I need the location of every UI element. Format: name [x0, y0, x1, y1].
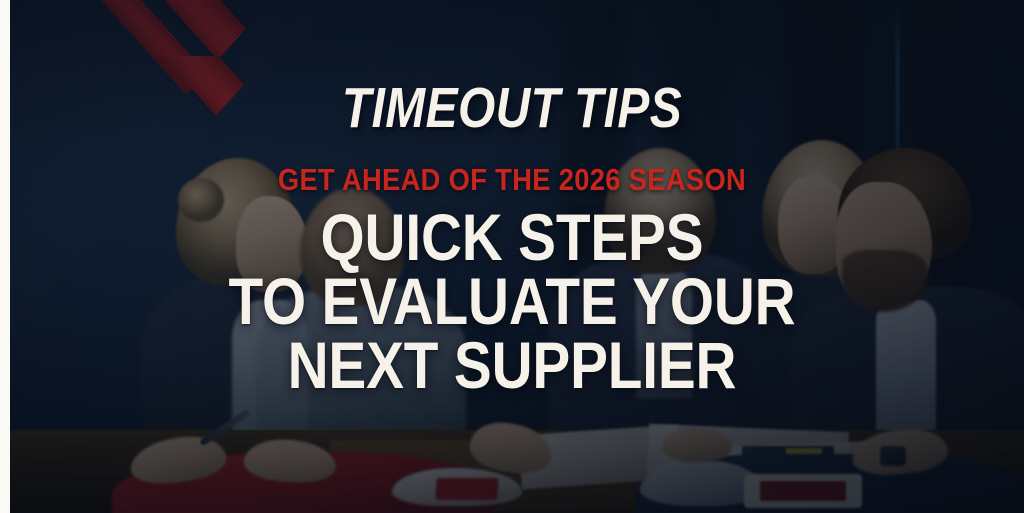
headline-line-2: TO EVALUATE YOUR: [72, 269, 953, 333]
headline-line-1: QUICK STEPS: [72, 205, 953, 269]
eyebrow-subtitle: GET AHEAD OF THE 2026 SEASON: [61, 164, 962, 195]
left-margin-strip: [0, 0, 10, 513]
promotional-banner: TIMEOUT TIPS GET AHEAD OF THE 2026 SEASO…: [0, 0, 1024, 513]
headline: QUICK STEPS TO EVALUATE YOUR NEXT SUPPLI…: [0, 205, 1024, 397]
kicker-title: TIMEOUT TIPS: [82, 80, 942, 137]
headline-line-3: NEXT SUPPLIER: [72, 333, 953, 397]
